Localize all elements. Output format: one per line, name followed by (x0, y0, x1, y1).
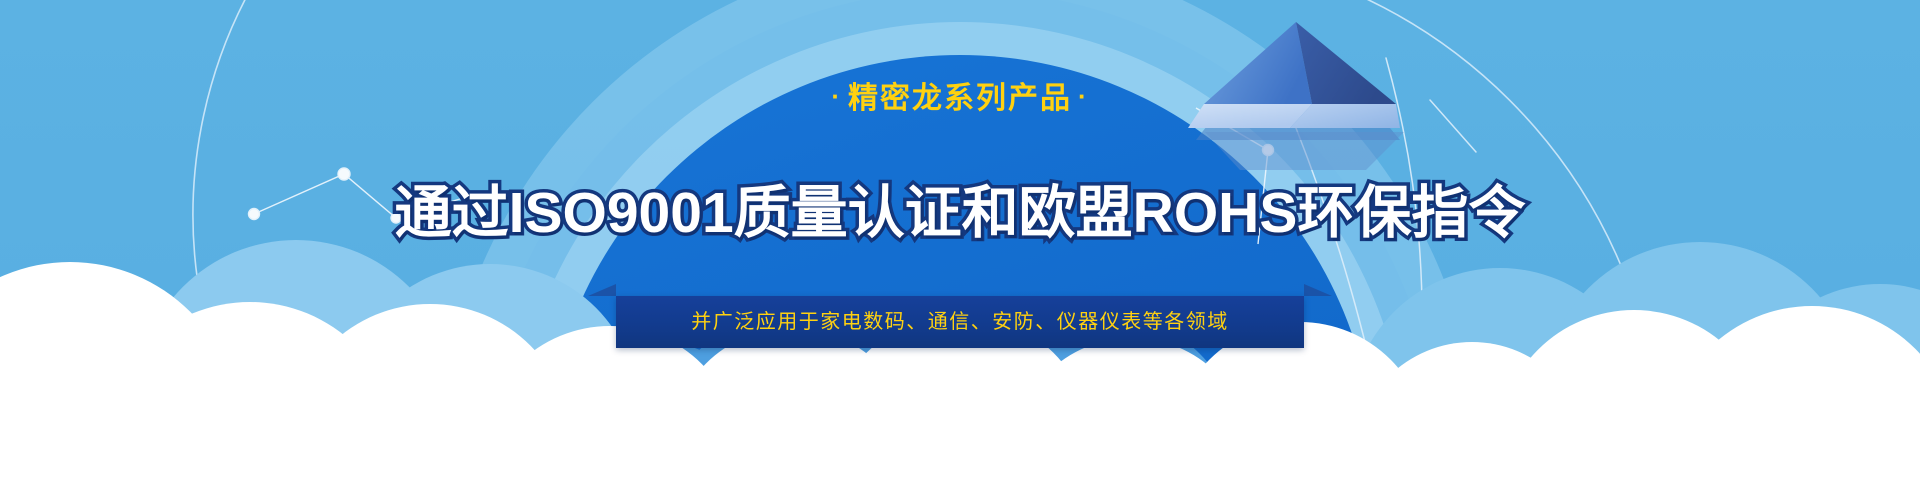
banner-content: ·精密龙系列产品· 通过ISO9001质量认证和欧盟ROHS环保指令 并广泛应用… (0, 0, 1920, 480)
promo-banner: ·精密龙系列产品· 通过ISO9001质量认证和欧盟ROHS环保指令 并广泛应用… (0, 0, 1920, 480)
kicker-text: 精密龙系列产品 (848, 82, 1072, 115)
kicker-right-dot-icon: · (1072, 81, 1095, 111)
ribbon-fold-right-icon (1304, 284, 1332, 296)
kicker-line: ·精密龙系列产品· (0, 76, 1920, 119)
ribbon-text: 并广泛应用于家电数码、通信、安防、仪器仪表等各领域 (691, 296, 1229, 348)
headline-text: 通过ISO9001质量认证和欧盟ROHS环保指令 (0, 178, 1920, 248)
ribbon-body: 并广泛应用于家电数码、通信、安防、仪器仪表等各领域 (616, 296, 1304, 348)
ribbon-fold-left-icon (588, 284, 616, 296)
kicker-left-dot-icon: · (825, 81, 848, 111)
subtitle-ribbon: 并广泛应用于家电数码、通信、安防、仪器仪表等各领域 (616, 296, 1304, 348)
